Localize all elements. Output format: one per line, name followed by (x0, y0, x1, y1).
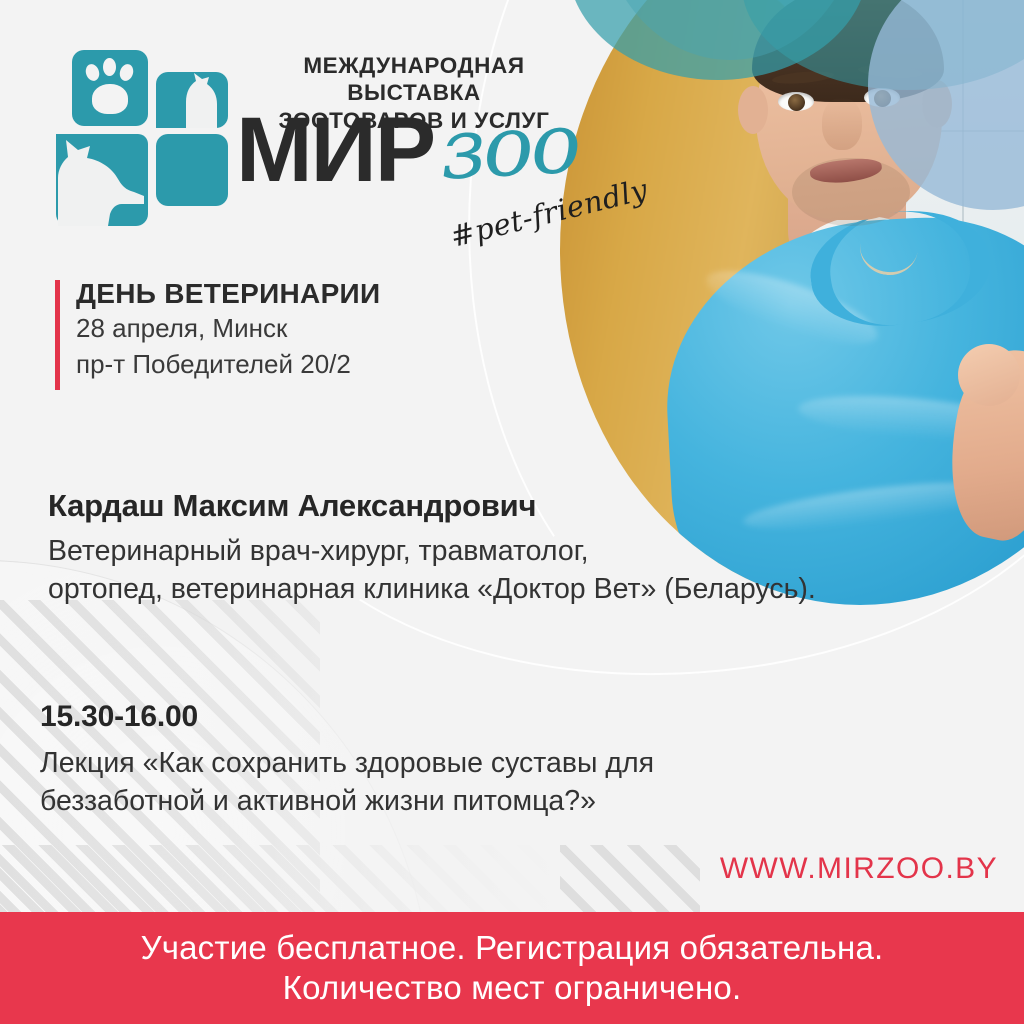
banner-line-2: Количество мест ограничено. (283, 968, 742, 1008)
brand-wordmark-mir: МИР (236, 104, 434, 196)
dog-silhouette-icon (56, 134, 148, 226)
event-info: ДЕНЬ ВЕТЕРИНАРИИ 28 апреля, Минск пр-т П… (76, 276, 506, 383)
cat-silhouette-icon (156, 72, 228, 128)
speaker-description-line2: ортопед, ветеринарная клиника «Доктор Ве… (48, 570, 1010, 608)
speaker-name: Кардаш Максим Александрович (48, 488, 1010, 524)
photo-hair (752, 0, 944, 102)
event-date-city: 28 апреля, Минск (76, 311, 506, 347)
event-title: ДЕНЬ ВЕТЕРИНАРИИ (76, 276, 506, 311)
brand-wordmark-zoo: зоо (438, 100, 580, 191)
photo-ear-left (738, 86, 768, 134)
speaker-description-line1: Ветеринарный врач-хирург, травматолог, (48, 532, 1010, 570)
dog-silhouette-svg (56, 134, 148, 226)
event-address: пр-т Победителей 20/2 (76, 347, 506, 383)
blank-tile-icon (156, 134, 228, 206)
speaker-info: Кардаш Максим Александрович Ветеринарный… (48, 488, 1010, 609)
photo-eye-right (864, 88, 900, 107)
website-url[interactable]: WWW.MIRZOO.BY (720, 852, 998, 886)
brand-logo-mark (56, 50, 232, 230)
event-accent-bar (55, 280, 60, 390)
diagonal-stripes-bottom (0, 845, 700, 917)
lecture-title-line1: Лекция «Как сохранить здоровые суставы д… (40, 744, 920, 782)
registration-banner: Участие бесплатное. Регистрация обязател… (0, 912, 1024, 1024)
photo-nose (822, 98, 862, 150)
photo-eye-left (778, 92, 814, 111)
paw-print-icon (72, 50, 148, 126)
lecture-time: 15.30-16.00 (40, 700, 920, 734)
banner-line-1: Участие бесплатное. Регистрация обязател… (141, 928, 884, 968)
cat-silhouette-svg (156, 72, 228, 128)
lecture-title-line2: беззаботной и активной жизни питомца?» (40, 782, 920, 820)
lecture-info: 15.30-16.00 Лекция «Как сохранить здоров… (40, 700, 920, 821)
photo-thumb-tip (958, 344, 1020, 406)
poster-root: МЕЖДУНАРОДНАЯ ВЫСТАВКА ЗООТОВАРОВ И УСЛУ… (0, 0, 1024, 1024)
